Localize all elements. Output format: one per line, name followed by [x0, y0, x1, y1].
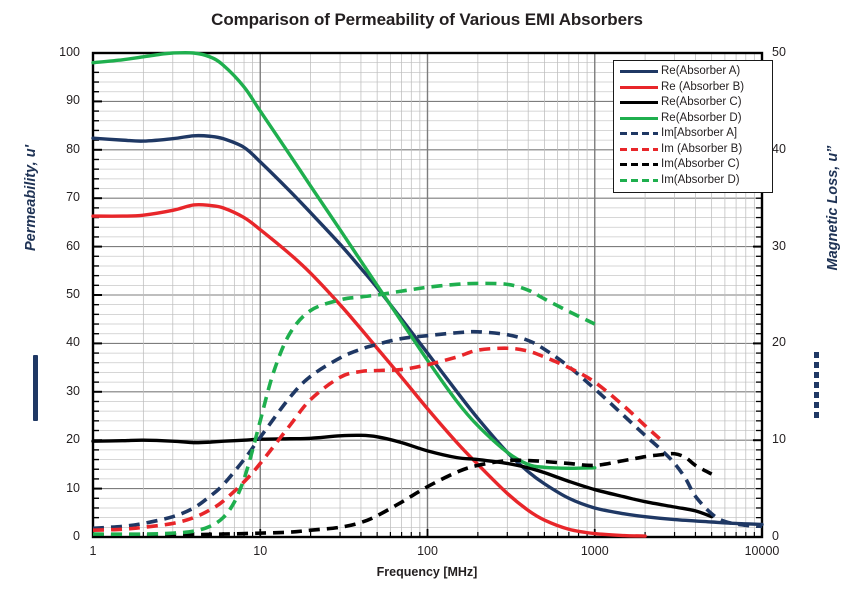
y-axis-right-tick-label: 30 [772, 239, 812, 253]
legend-item[interactable]: Re(Absorber D) [619, 111, 767, 127]
legend-item[interactable]: Re(Absorber C) [619, 95, 767, 111]
legend-item[interactable]: Re (Absorber B) [619, 80, 767, 96]
y-axis-left-tick-label: 0 [44, 529, 80, 543]
x-axis-tick-label: 1000 [560, 544, 630, 558]
legend-item[interactable]: Im(Absorber D) [619, 173, 767, 189]
legend-swatch-dashed-icon [619, 175, 659, 186]
y-axis-right-tick-label: 40 [772, 142, 812, 156]
chart-container: Comparison of Permeability of Various EM… [0, 0, 854, 597]
y-axis-right-tick-label: 50 [772, 45, 812, 59]
legend-swatch-solid-icon [619, 82, 659, 93]
legend-label: Re(Absorber D) [661, 113, 742, 124]
legend-label: Re(Absorber C) [661, 97, 742, 108]
legend-swatch-dashed-icon [619, 159, 659, 170]
legend-label: Re (Absorber B) [661, 82, 744, 93]
legend-item[interactable]: Im(Absorber C) [619, 157, 767, 173]
y-axis-left-tick-label: 20 [44, 432, 80, 446]
y-axis-left-tick-label: 50 [44, 287, 80, 301]
y-axis-left-tick-label: 70 [44, 190, 80, 204]
legend-swatch-dashed-icon [619, 144, 659, 155]
x-axis-tick-label: 100 [393, 544, 463, 558]
legend-item[interactable]: Im[Absorber A] [619, 126, 767, 142]
y-axis-right-tick-label: 10 [772, 432, 812, 446]
legend-label: Im(Absorber D) [661, 175, 740, 186]
legend-swatch-solid-icon [619, 113, 659, 124]
x-axis-tick-label: 10000 [727, 544, 797, 558]
legend-label: Re(Absorber A) [661, 66, 740, 77]
legend-swatch-solid-icon [619, 66, 659, 77]
y-axis-left-tick-label: 60 [44, 239, 80, 253]
legend-label: Im[Absorber A] [661, 128, 737, 139]
legend-swatch-solid-icon [619, 97, 659, 108]
x-axis-tick-label: 10 [225, 544, 295, 558]
legend-swatch-dashed-icon [619, 128, 659, 139]
legend-item[interactable]: Im (Absorber B) [619, 142, 767, 158]
y-axis-right-tick-label: 0 [772, 529, 812, 543]
y-axis-left-tick-label: 40 [44, 335, 80, 349]
legend-label: Im (Absorber B) [661, 144, 742, 155]
legend-label: Im(Absorber C) [661, 159, 740, 170]
y-axis-left-tick-label: 100 [44, 45, 80, 59]
y-axis-left-tick-label: 90 [44, 93, 80, 107]
y-axis-left-tick-label: 80 [44, 142, 80, 156]
y-axis-left-tick-label: 10 [44, 481, 80, 495]
y-axis-right-tick-label: 20 [772, 335, 812, 349]
legend-item[interactable]: Re(Absorber A) [619, 64, 767, 80]
y-axis-left-tick-label: 30 [44, 384, 80, 398]
legend: Re(Absorber A)Re (Absorber B)Re(Absorber… [613, 60, 773, 193]
x-axis-tick-label: 1 [58, 544, 128, 558]
